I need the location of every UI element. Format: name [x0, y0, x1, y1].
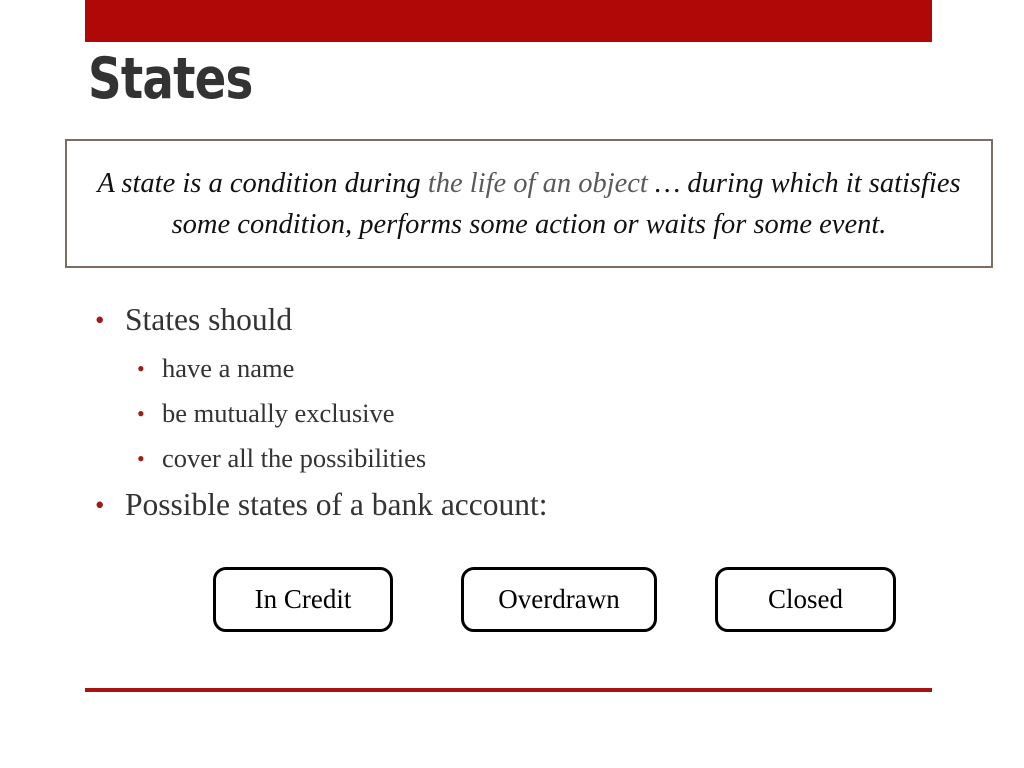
list-item: • States should [95, 296, 955, 344]
list-item-label: Possible states of a bank account: [125, 481, 548, 529]
list-item-label: have a name [162, 346, 294, 391]
bullet-dot-icon: • [137, 346, 162, 391]
state-node-in-credit: In Credit [213, 567, 393, 632]
top-red-banner [85, 0, 932, 42]
list-item: • Possible states of a bank account: [95, 481, 955, 529]
bullet-dot-icon: • [95, 481, 125, 529]
definition-part-1: A state is a condition during [97, 168, 427, 199]
list-item: • be mutually exclusive [137, 391, 955, 436]
page-title: States [88, 48, 252, 110]
definition-callout-box: A state is a condition during the life o… [65, 139, 993, 268]
list-item: • cover all the possibilities [137, 436, 955, 481]
state-node-label: Closed [768, 584, 843, 615]
bottom-red-rule [85, 688, 932, 692]
state-node-closed: Closed [715, 567, 896, 632]
state-node-label: Overdrawn [498, 584, 619, 615]
list-item-label: be mutually exclusive [162, 391, 395, 436]
state-node-overdrawn: Overdrawn [461, 567, 657, 632]
bullet-dot-icon: • [137, 436, 162, 481]
bullet-list: • States should • have a name • be mutua… [95, 296, 955, 531]
definition-text: A state is a condition during the life o… [67, 163, 991, 245]
list-item: • have a name [137, 346, 955, 391]
state-node-label: In Credit [255, 584, 352, 615]
definition-part-2-muted: the life of an object [428, 168, 655, 199]
list-item-label: cover all the possibilities [162, 436, 426, 481]
bullet-dot-icon: • [95, 296, 125, 344]
bullet-dot-icon: • [137, 391, 162, 436]
list-item-label: States should [125, 296, 292, 344]
